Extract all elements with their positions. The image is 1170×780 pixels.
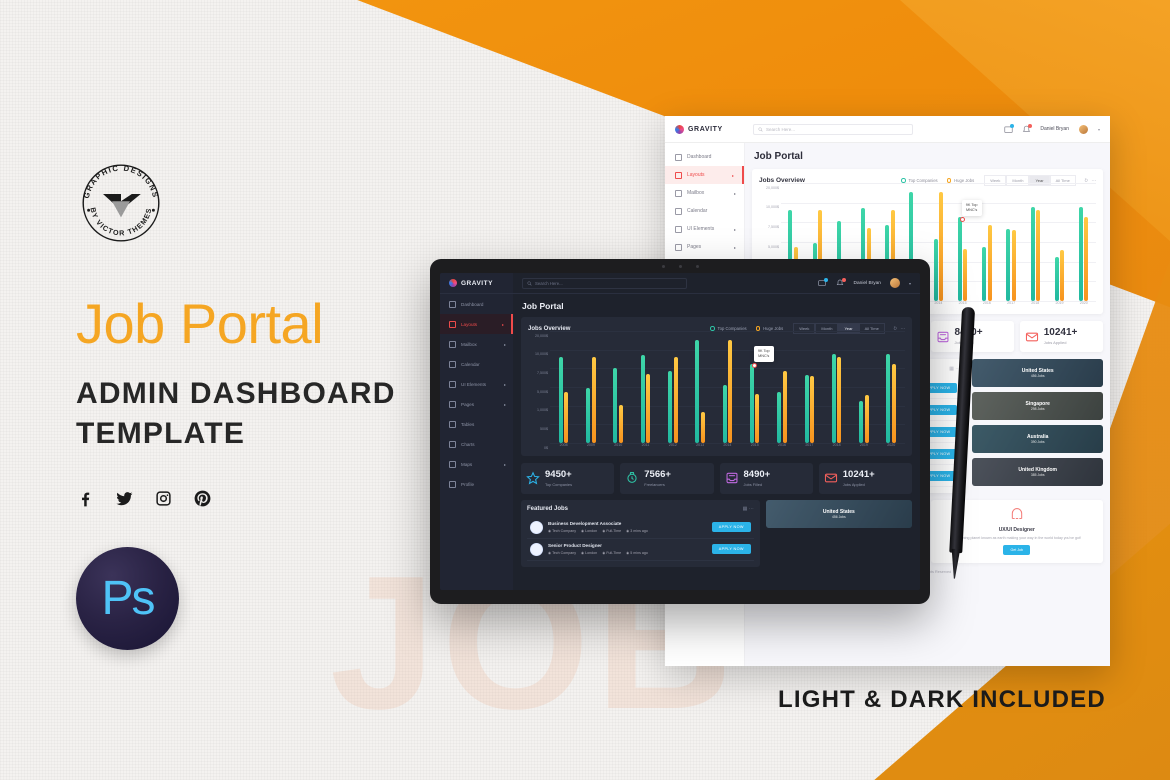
brand-name: GRAVITY xyxy=(461,280,493,287)
sidebar-item-label: Pages xyxy=(461,402,474,407)
bar-huge-jobs[interactable] xyxy=(646,374,650,443)
bar-huge-jobs[interactable] xyxy=(728,340,732,443)
tooltip-line-2: MNC's xyxy=(758,354,770,359)
country-job-count: 385 Jobs xyxy=(1031,473,1045,477)
search-input[interactable]: Search Here... xyxy=(753,124,913,135)
bar-top-companies[interactable] xyxy=(750,364,754,443)
light-topbar: GRAVITY Search Here... Daniel Bryan ▾ xyxy=(665,116,1110,143)
sidebar-item-label: Pages xyxy=(687,244,701,250)
x-tick: 2010 xyxy=(613,443,624,452)
bar-huge-jobs[interactable] xyxy=(674,357,678,443)
job-meta: ◉ Tech Company ◉ London ◉ Full-Time ◉ 5 … xyxy=(548,551,648,555)
chevron-right-icon: ▸ xyxy=(504,342,506,347)
sensor-icon xyxy=(679,265,682,268)
sidebar-item-mailbox[interactable]: Mailbox ▸ xyxy=(665,184,744,202)
bar-top-companies[interactable] xyxy=(1079,207,1083,302)
tablet-device: GRAVITY Dashboard Layouts ▸ Mailbox ▸ Ca… xyxy=(430,259,930,604)
chevron-down-icon[interactable]: ▾ xyxy=(909,281,911,286)
bar-huge-jobs[interactable] xyxy=(1084,217,1088,301)
sidebar-item-dashboard[interactable]: Dashboard xyxy=(440,294,513,314)
bar-top-companies[interactable] xyxy=(934,239,938,301)
chevron-right-icon: ▸ xyxy=(504,402,506,407)
x-tick: 2011 xyxy=(640,443,651,452)
apply-now-button[interactable]: APPLY NOW xyxy=(712,522,751,532)
bar-group xyxy=(1006,192,1016,301)
sidebar-item-label: Layouts xyxy=(461,322,477,327)
sidebar-item-label: Profile xyxy=(461,482,474,487)
chart-icon xyxy=(449,441,456,448)
bar-top-companies[interactable] xyxy=(982,247,986,301)
stat-label: Jobs Applied xyxy=(1044,340,1078,345)
subtitle-line-1: ADMIN DASHBOARD xyxy=(76,374,406,414)
job-title: Business Development Associate xyxy=(548,521,621,526)
sidebar-item-layouts[interactable]: Layouts ▸ xyxy=(440,314,513,334)
chevron-right-icon: ▸ xyxy=(732,173,734,178)
layout-icon xyxy=(449,321,456,328)
messages-icon[interactable] xyxy=(818,279,827,288)
bar-top-companies[interactable] xyxy=(958,217,962,301)
x-tick: 2014 xyxy=(933,301,944,310)
country-cards-dark: United States 456 Jobs xyxy=(766,500,912,567)
dark-sidebar: GRAVITY Dashboard Layouts ▸ Mailbox ▸ Ca… xyxy=(440,273,513,590)
y-tick: 20,000$ xyxy=(766,186,779,190)
bar-top-companies[interactable] xyxy=(559,357,563,443)
x-tick: 2015 xyxy=(749,443,760,452)
chevron-right-icon: ▸ xyxy=(504,382,506,387)
x-tick: 2008 xyxy=(558,443,569,452)
y-tick: 10,000$ xyxy=(535,352,548,356)
bar-group xyxy=(886,340,896,443)
gravity-orb-icon xyxy=(449,279,457,287)
mail-icon xyxy=(449,341,456,348)
x-tick: 2009 xyxy=(585,443,596,452)
brand-logo[interactable]: GRAVITY xyxy=(665,125,745,134)
bar-group xyxy=(723,340,733,443)
bar-group xyxy=(641,340,651,443)
chart-tooltip: 9K Top MNC's xyxy=(754,346,774,362)
country-job-count: 456 Jobs xyxy=(1031,374,1045,378)
bar-top-companies[interactable] xyxy=(1055,257,1059,301)
palette-icon xyxy=(1010,508,1024,522)
bar-group xyxy=(559,340,569,443)
bar-huge-jobs[interactable] xyxy=(963,249,967,301)
envelope-icon xyxy=(1025,330,1039,344)
x-tick: 2016 xyxy=(981,301,992,310)
bar-group xyxy=(668,340,678,443)
range-week[interactable]: Week xyxy=(793,323,815,334)
sidebar-item-mailbox[interactable]: Mailbox ▸ xyxy=(440,334,513,354)
ui-icon xyxy=(675,226,682,233)
victor-themes-badge: GRAPHIC DESIGNS BY VICTOR THEMES xyxy=(76,158,166,248)
y-tick: 7,500$ xyxy=(768,225,779,229)
tooltip-line-1: 9K Top xyxy=(966,203,978,208)
search-icon xyxy=(527,281,532,286)
bar-huge-jobs[interactable] xyxy=(1036,210,1040,301)
x-tick: 2017 xyxy=(1006,301,1017,310)
promo-panel: GRAPHIC DESIGNS BY VICTOR THEMES Job Por… xyxy=(76,158,406,650)
sidebar-item-calendar[interactable]: Calendar xyxy=(440,354,513,374)
messages-icon[interactable] xyxy=(1004,125,1013,134)
topbar-actions: Daniel Bryan ▾ xyxy=(1004,124,1110,135)
x-tick: 2020 xyxy=(1078,301,1089,310)
bar-group xyxy=(859,340,869,443)
ui-icon xyxy=(449,381,456,388)
instagram-icon[interactable] xyxy=(154,489,173,513)
dark-dashboard: GRAVITY Dashboard Layouts ▸ Mailbox ▸ Ca… xyxy=(440,273,920,590)
featured-options[interactable]: ▦ ⋯ xyxy=(743,506,754,512)
range-year[interactable]: Year xyxy=(1029,175,1049,186)
apply-now-button[interactable]: APPLY NOW xyxy=(712,544,751,554)
bar-huge-jobs[interactable] xyxy=(783,371,787,443)
photoshop-badge: Ps xyxy=(76,547,179,650)
bar-group xyxy=(805,340,815,443)
mail-icon xyxy=(675,190,682,197)
jobs-overview-card-dark: Jobs Overview Top Companies Huge Jobs We… xyxy=(521,317,912,456)
x-axis: 2008200920102011201220132014201520162017… xyxy=(550,443,905,452)
bar-group xyxy=(1031,192,1041,301)
bar-group xyxy=(1079,192,1089,301)
sidebar-item-label: Dashboard xyxy=(687,154,711,160)
layout-icon xyxy=(675,172,682,179)
stat-value: 10241+ xyxy=(843,469,875,480)
job-company: ◉ Tech Company xyxy=(548,551,576,555)
gridline xyxy=(550,331,905,332)
range-month[interactable]: Month xyxy=(815,323,838,334)
job-title: Senior Product Designer xyxy=(548,543,602,548)
tooltip-line-2: MNC's xyxy=(966,208,978,213)
envelope-icon xyxy=(824,471,838,485)
notifications-icon[interactable] xyxy=(1022,125,1031,134)
job-type: ◉ Full-Time xyxy=(602,551,621,555)
country-card[interactable]: United States 456 Jobs xyxy=(972,359,1103,387)
page-heading-dark: Job Portal xyxy=(522,301,912,311)
bar-group xyxy=(1055,192,1065,301)
svg-text:GRAPHIC DESIGNS: GRAPHIC DESIGNS xyxy=(82,164,160,200)
notifications-icon[interactable] xyxy=(836,279,845,288)
chevron-right-icon: ▸ xyxy=(734,227,736,232)
range-all-time[interactable]: All Time xyxy=(859,323,885,334)
search-input-dark[interactable]: Search Here... xyxy=(522,278,687,289)
camera-icon xyxy=(662,265,665,268)
bar-top-companies[interactable] xyxy=(723,385,727,443)
get-job-button[interactable]: Get Job xyxy=(1003,545,1030,555)
chevron-down-icon[interactable]: ▾ xyxy=(1098,127,1100,132)
sidebar-item-label: Charts xyxy=(461,442,475,447)
sidebar-item-pages[interactable]: Pages ▸ xyxy=(440,394,513,414)
job-row[interactable]: Senior Product Designer ◉ Tech Company ◉… xyxy=(527,539,754,561)
stat-card[interactable]: 8490+ Jobs Filled xyxy=(720,463,813,494)
range-filter[interactable]: WeekMonthYearAll Time xyxy=(793,323,885,334)
stat-card[interactable]: 9450+ Top Companies xyxy=(521,463,614,494)
y-tick: 10,000$ xyxy=(766,205,779,209)
speaker-icon xyxy=(696,265,699,268)
grid-icon xyxy=(449,301,456,308)
page-title: Job Portal xyxy=(76,296,406,352)
search-placeholder: Search Here... xyxy=(766,127,795,132)
y-tick: 7,500$ xyxy=(537,371,548,375)
sidebar-item-label: UI Elements xyxy=(461,382,486,387)
country-card[interactable]: United Kingdom 385 Jobs xyxy=(972,458,1103,486)
stat-card[interactable]: 10241+ Jobs Applied xyxy=(819,463,912,494)
job-posted: ◉ 3 mins ago xyxy=(626,529,648,533)
avatar[interactable] xyxy=(890,278,900,288)
bar-huge-jobs[interactable] xyxy=(619,405,623,443)
topbar-actions-dark: Daniel Bryan ▾ xyxy=(818,278,911,288)
bar-huge-jobs[interactable] xyxy=(837,357,841,443)
dark-topbar: Search Here... Daniel Bryan ▾ xyxy=(513,273,920,294)
pages-icon xyxy=(675,244,682,251)
avatar[interactable] xyxy=(1078,124,1089,135)
brand-name: GRAVITY xyxy=(688,126,723,133)
bar-huge-jobs[interactable] xyxy=(865,395,869,444)
sidebar-item-tables[interactable]: Tables xyxy=(440,414,513,434)
bar-group xyxy=(586,340,596,443)
calendar-icon xyxy=(675,208,682,215)
country-job-count: 456 Jobs xyxy=(832,515,846,519)
sidebar-item-charts[interactable]: Charts xyxy=(440,434,513,454)
company-avatar xyxy=(530,521,543,534)
sidebar-item-dashboard[interactable]: Dashboard xyxy=(665,148,744,166)
star-icon xyxy=(526,471,540,485)
sidebar-item-label: Mailbox xyxy=(461,342,477,347)
sidebar-item-label: Layouts xyxy=(687,172,705,178)
country-job-count: 390 Jobs xyxy=(1031,440,1045,444)
inbox-icon xyxy=(725,471,739,485)
bar-huge-jobs[interactable] xyxy=(1060,250,1064,301)
table-icon xyxy=(449,421,456,428)
x-tick: 2014 xyxy=(722,443,733,452)
sidebar-item-profile[interactable]: Profile xyxy=(440,474,513,494)
range-all-time[interactable]: All Time xyxy=(1050,175,1076,186)
bar-huge-jobs[interactable] xyxy=(892,364,896,443)
country-card[interactable]: Singapore 298 Jobs xyxy=(972,392,1103,420)
stat-card[interactable]: 7566+ Freelancers xyxy=(620,463,713,494)
tooltip-anchor-dot xyxy=(960,217,965,222)
user-name: Daniel Bryan xyxy=(854,281,881,286)
sidebar-item-pages[interactable]: Pages ▸ xyxy=(665,238,744,256)
y-tick: 5,000$ xyxy=(537,390,548,394)
gridline xyxy=(781,183,1096,184)
facebook-icon[interactable] xyxy=(76,489,95,513)
bar-top-companies[interactable] xyxy=(641,355,645,443)
bar-group xyxy=(777,340,787,443)
x-tick: 2017 xyxy=(804,443,815,452)
bar-group-container xyxy=(550,340,905,443)
bar-huge-jobs[interactable] xyxy=(810,376,814,443)
plot-area: 2008200920102011201220132014201520162017… xyxy=(550,340,905,452)
brand-logo-dark[interactable]: GRAVITY xyxy=(440,273,513,294)
x-tick: 2019 xyxy=(1054,301,1065,310)
bar-huge-jobs[interactable] xyxy=(1012,230,1016,301)
sidebar-item-label: UI Elements xyxy=(687,226,714,232)
bar-huge-jobs[interactable] xyxy=(592,357,596,443)
bar-huge-jobs[interactable] xyxy=(564,392,568,444)
y-tick: 1,000$ xyxy=(537,408,548,412)
x-tick: 2012 xyxy=(667,443,678,452)
twitter-icon[interactable] xyxy=(115,489,134,513)
sidebar-item-label: Calendar xyxy=(461,362,480,367)
bar-top-companies[interactable] xyxy=(586,388,590,443)
bar-top-companies[interactable] xyxy=(613,368,617,443)
bar-top-companies[interactable] xyxy=(886,354,890,443)
featured-jobs-card-dark: Featured Jobs ▦ ⋯ Business Development A… xyxy=(521,500,760,567)
search-icon xyxy=(758,127,763,132)
job-list-dark: Business Development Associate ◉ Tech Co… xyxy=(527,517,754,561)
stat-value: 8490+ xyxy=(744,469,771,480)
bar-group xyxy=(982,192,992,301)
bar-huge-jobs[interactable] xyxy=(755,394,759,443)
country-card[interactable]: Australia 390 Jobs xyxy=(972,425,1103,453)
tooltip-anchor-dot xyxy=(752,363,757,368)
calendar-icon xyxy=(449,361,456,368)
page-subtitle: ADMIN DASHBOARD TEMPLATE xyxy=(76,374,406,453)
page-heading: Job Portal xyxy=(754,151,1103,162)
bar-top-companies[interactable] xyxy=(668,371,672,443)
bar-huge-jobs[interactable] xyxy=(939,192,943,301)
sidebar-item-label: Calendar xyxy=(687,208,707,214)
x-tick: 2013 xyxy=(695,443,706,452)
sidebar-item-ui-elements[interactable]: UI Elements ▸ xyxy=(665,220,744,238)
sidebar-item-label: Maps xyxy=(461,462,472,467)
bar-huge-jobs[interactable] xyxy=(988,225,992,301)
map-icon xyxy=(449,461,456,468)
y-axis: 0$500$1,000$5,000$7,500$10,000$20,000$ xyxy=(528,340,550,452)
bar-top-companies[interactable] xyxy=(859,401,863,443)
job-posted: ◉ 5 mins ago xyxy=(626,551,648,555)
job-location: ◉ London xyxy=(581,529,597,533)
chevron-right-icon: ▸ xyxy=(734,191,736,196)
sidebar-item-label: Mailbox xyxy=(687,190,704,196)
pinterest-icon[interactable] xyxy=(193,489,212,513)
range-filter[interactable]: WeekMonthYearAll Time xyxy=(984,175,1076,186)
bar-top-companies[interactable] xyxy=(805,375,809,443)
stat-card[interactable]: 10241+ Jobs Applied xyxy=(1020,321,1103,352)
chevron-right-icon: ▸ xyxy=(734,245,736,250)
stat-label: Freelancers xyxy=(644,482,671,487)
search-placeholder: Search Here... xyxy=(535,281,563,286)
footer-tagline: LIGHT & DARK INCLUDED xyxy=(778,686,1106,714)
job-location: ◉ London xyxy=(581,551,597,555)
job-company: ◉ Tech Company xyxy=(548,529,576,533)
job-type: ◉ Full-Time xyxy=(602,529,621,533)
bar-group xyxy=(695,340,705,443)
y-tick: 5,000$ xyxy=(768,245,779,249)
bar-top-companies[interactable] xyxy=(777,392,781,443)
x-tick: 2016 xyxy=(777,443,788,452)
country-cards: United States 456 Jobs Singapore 298 Job… xyxy=(972,359,1103,493)
x-tick: 2018 xyxy=(831,443,842,452)
gravity-orb-icon xyxy=(675,125,684,134)
y-tick: 20,000$ xyxy=(535,334,548,338)
stat-value: 10241+ xyxy=(1044,327,1078,338)
chart-tooltip: 9K Top MNC's xyxy=(962,200,982,216)
user-icon xyxy=(449,481,456,488)
tablet-camera-row xyxy=(430,265,930,268)
y-tick: 500$ xyxy=(540,427,548,431)
chevron-right-icon: ▸ xyxy=(504,462,506,467)
bar-group xyxy=(934,192,944,301)
range-month[interactable]: Month xyxy=(1006,175,1029,186)
range-year[interactable]: Year xyxy=(838,323,858,334)
subtitle-line-2: TEMPLATE xyxy=(76,414,406,454)
job-meta: ◉ Tech Company ◉ London ◉ Full-Time ◉ 3 … xyxy=(548,529,648,533)
bar-group xyxy=(613,340,623,443)
sidebar-item-layouts[interactable]: Layouts ▸ xyxy=(665,166,744,184)
company-avatar xyxy=(530,543,543,556)
pages-icon xyxy=(449,401,456,408)
sidebar-item-label: Tables xyxy=(461,422,474,427)
stat-label: Jobs Filled xyxy=(744,482,771,487)
stat-cards-dark: 9450+ Top Companies 7566+ Freelancers 84… xyxy=(521,463,912,494)
bar-huge-jobs[interactable] xyxy=(701,412,705,443)
stylus-tip xyxy=(950,549,960,579)
bar-group xyxy=(832,340,842,443)
bar-top-companies[interactable] xyxy=(695,340,699,443)
x-tick: 2020 xyxy=(886,443,897,452)
grid-icon xyxy=(675,154,682,161)
stat-label: Jobs Applied xyxy=(843,482,875,487)
sidebar-item-maps[interactable]: Maps ▸ xyxy=(440,454,513,474)
bar-top-companies[interactable] xyxy=(832,354,836,443)
inbox-icon xyxy=(936,330,950,344)
stat-label: Top Companies xyxy=(545,482,572,487)
x-tick: 2019 xyxy=(858,443,869,452)
stat-value: 7566+ xyxy=(644,469,671,480)
bar-top-companies[interactable] xyxy=(1006,229,1010,301)
job-row[interactable]: Business Development Associate ◉ Tech Co… xyxy=(527,517,754,539)
sidebar-item-label: Dashboard xyxy=(461,302,483,307)
social-links xyxy=(76,489,406,513)
country-card[interactable]: United States 456 Jobs xyxy=(766,500,912,528)
range-week[interactable]: Week xyxy=(984,175,1006,186)
featured-jobs-title: Featured Jobs xyxy=(527,506,568,512)
sidebar-item-calendar[interactable]: Calendar xyxy=(665,202,744,220)
watch-icon xyxy=(625,471,639,485)
user-name: Daniel Bryan xyxy=(1040,126,1069,132)
chevron-right-icon: ▸ xyxy=(502,322,504,327)
country-job-count: 298 Jobs xyxy=(1031,407,1045,411)
x-tick: 2018 xyxy=(1030,301,1041,310)
chart-plot-dark: 0$500$1,000$5,000$7,500$10,000$20,000$ 2… xyxy=(528,340,905,452)
y-tick: 0$ xyxy=(544,446,548,450)
bar-top-companies[interactable] xyxy=(1031,207,1035,302)
sidebar-item-ui-elements[interactable]: UI Elements ▸ xyxy=(440,374,513,394)
stat-value: 9450+ xyxy=(545,469,572,480)
